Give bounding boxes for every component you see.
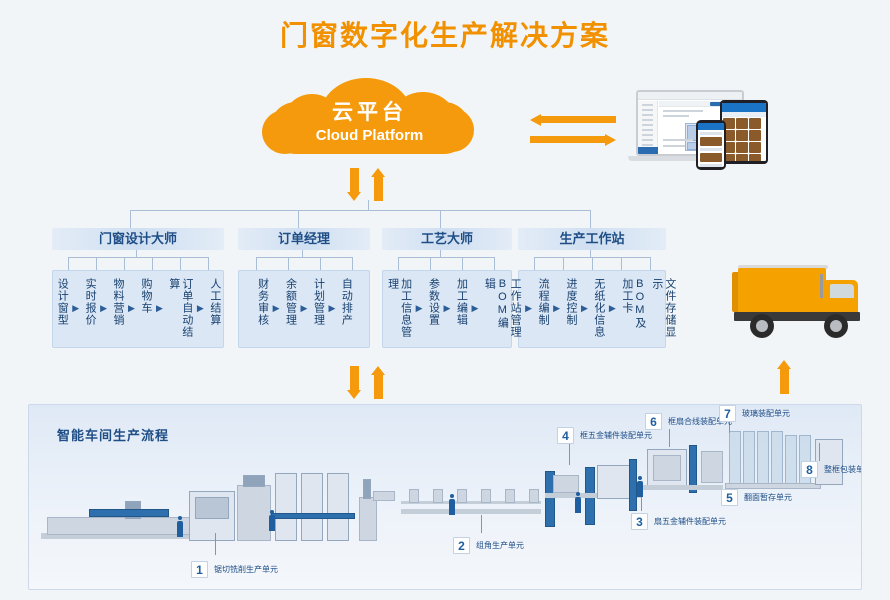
module-items: 工作站管理 ▶ 流程编制 ▶ 进度控制 ▶ 无纸化信息 ▶ BOM及加工卡 文件… bbox=[518, 270, 666, 348]
unit-number: 3 bbox=[631, 513, 648, 530]
modules-to-factory-arrows bbox=[345, 366, 391, 400]
module-design-master[interactable]: 门窗设计大师 设计窗型 ▶ 实时报价 ▶ 物料营销 ▶ 购物车 ▶ 订单自动结算… bbox=[52, 228, 224, 348]
module-header: 门窗设计大师 bbox=[52, 228, 224, 250]
unit-name: 组角生产单元 bbox=[476, 540, 524, 551]
flow-arrow-icon: ▶ bbox=[70, 303, 81, 314]
flow-arrow-icon: ▶ bbox=[442, 303, 453, 314]
module-header: 订单经理 bbox=[238, 228, 370, 250]
arrow-up-icon bbox=[369, 168, 387, 201]
module-order-manager[interactable]: 订单经理 财务审核 ▶ 余额管理 ▶ 计划管理 ▶ 自动排产 bbox=[238, 228, 370, 348]
phone-device bbox=[696, 120, 726, 170]
module-item[interactable]: 实时报价 bbox=[81, 278, 98, 338]
module-production-workstation[interactable]: 生产工作站 工作站管理 ▶ 流程编制 ▶ 进度控制 ▶ 无纸化信息 ▶ BOM及… bbox=[518, 228, 666, 348]
module-sub-connectors bbox=[382, 250, 512, 270]
module-item[interactable]: 工作站管理 bbox=[506, 278, 523, 338]
unit-label-4: 4 框五金辅件装配单元 bbox=[557, 427, 652, 444]
tablet-device bbox=[720, 100, 768, 164]
arrow-right-icon bbox=[530, 134, 616, 145]
flow-arrow-icon: ▶ bbox=[271, 303, 282, 314]
unit-number: 4 bbox=[557, 427, 574, 444]
module-sub-connectors bbox=[52, 250, 224, 270]
flow-arrow-icon: ▶ bbox=[469, 303, 480, 314]
unit-number: 1 bbox=[191, 561, 208, 578]
unit-name: 框五金辅件装配单元 bbox=[580, 430, 652, 441]
module-item[interactable]: 进度控制 bbox=[562, 278, 579, 338]
cloud-device-sync-arrows bbox=[530, 110, 616, 154]
flow-arrow-icon: ▶ bbox=[154, 303, 165, 314]
module-item[interactable]: 加工信息管理 bbox=[384, 278, 414, 338]
unit-label-1: 1 锯切铣削生产单元 bbox=[191, 561, 278, 578]
unit-label-8: 8 整框包装单元 bbox=[801, 461, 862, 478]
module-item[interactable]: 订单自动结算 bbox=[165, 278, 195, 338]
module-item-col-b[interactable]: BOM及加工卡 bbox=[618, 278, 648, 338]
module-header: 工艺大师 bbox=[382, 228, 512, 250]
flow-arrow-icon: ▶ bbox=[607, 303, 618, 314]
module-item[interactable]: 参数设置 bbox=[425, 278, 442, 338]
module-item-col-a[interactable]: 文件存储显示 bbox=[648, 278, 678, 338]
arrow-down-icon bbox=[345, 366, 363, 399]
module-item[interactable]: 自动排产 bbox=[337, 278, 354, 338]
arrow-up-icon bbox=[369, 366, 387, 399]
cloud-label-group: 云平台 Cloud Platform bbox=[262, 100, 477, 146]
module-items: 加工信息管理 ▶ 参数设置 ▶ 加工编辑 ▶ BOM编辑 bbox=[382, 270, 512, 348]
module-items: 设计窗型 ▶ 实时报价 ▶ 物料营销 ▶ 购物车 ▶ 订单自动结算 ▶ 人工结算 bbox=[52, 270, 224, 348]
truck-window bbox=[830, 284, 854, 298]
unit-number: 5 bbox=[721, 489, 738, 506]
unit-label-7: 7 玻璃装配单元 bbox=[719, 405, 790, 422]
module-items: 财务审核 ▶ 余额管理 ▶ 计划管理 ▶ 自动排产 bbox=[238, 270, 370, 348]
unit-number: 8 bbox=[801, 461, 818, 478]
unit-name: 整框包装单元 bbox=[824, 464, 862, 475]
factory-title: 智能车间生产流程 bbox=[57, 425, 169, 444]
flow-arrow-icon: ▶ bbox=[195, 303, 206, 314]
truck-wheel bbox=[750, 314, 774, 338]
unit-number: 2 bbox=[453, 537, 470, 554]
flow-arrow-icon: ▶ bbox=[523, 303, 534, 314]
module-sub-connectors bbox=[518, 250, 666, 270]
unit-name: 锯切铣削生产单元 bbox=[214, 564, 278, 575]
flow-arrow-icon: ▶ bbox=[126, 303, 137, 314]
module-item[interactable]: 无纸化信息 bbox=[590, 278, 607, 338]
unit-number: 7 bbox=[719, 405, 736, 422]
module-item[interactable]: 财务审核 bbox=[254, 278, 271, 338]
module-header: 生产工作站 bbox=[518, 228, 666, 250]
cloud-to-modules-arrows bbox=[345, 168, 391, 202]
module-item[interactable]: 设计窗型 bbox=[53, 278, 70, 338]
module-item[interactable]: 余额管理 bbox=[282, 278, 299, 338]
unit-label-2: 2 组角生产单元 bbox=[453, 537, 524, 554]
cloud-label-en: Cloud Platform bbox=[262, 126, 477, 146]
module-item[interactable]: 加工编辑 bbox=[452, 278, 469, 338]
delivery-truck bbox=[712, 258, 862, 354]
unit-name: 翻面暂存单元 bbox=[744, 492, 792, 503]
truck-cargo-box bbox=[738, 268, 826, 314]
page-title: 门窗数字化生产解决方案 bbox=[0, 14, 890, 54]
module-craft-master[interactable]: 工艺大师 加工信息管理 ▶ 参数设置 ▶ 加工编辑 ▶ BOM编辑 bbox=[382, 228, 512, 348]
smart-workshop-panel: 智能车间生产流程 bbox=[28, 404, 862, 590]
module-item[interactable]: 流程编制 bbox=[534, 278, 551, 338]
unit-name: 玻璃装配单元 bbox=[742, 408, 790, 419]
module-item[interactable]: 计划管理 bbox=[309, 278, 326, 338]
unit-label-5: 5 翻面暂存单元 bbox=[721, 489, 792, 506]
flow-arrow-icon: ▶ bbox=[414, 303, 425, 314]
unit-label-3: 3 扇五金辅件装配单元 bbox=[631, 513, 726, 530]
device-mockups bbox=[628, 88, 778, 170]
unit-name: 扇五金辅件装配单元 bbox=[654, 516, 726, 527]
flow-arrow-icon: ▶ bbox=[579, 303, 590, 314]
module-sub-connectors bbox=[238, 250, 370, 270]
arrow-down-icon bbox=[345, 168, 363, 201]
flow-arrow-icon: ▶ bbox=[299, 303, 310, 314]
cloud-platform: 云平台 Cloud Platform bbox=[262, 78, 477, 158]
module-item[interactable]: 购物车 bbox=[137, 278, 154, 338]
flow-arrow-icon: ▶ bbox=[98, 303, 109, 314]
truck-wheel bbox=[824, 314, 848, 338]
arrow-left-icon bbox=[530, 114, 616, 125]
module-item[interactable]: 人工结算 bbox=[206, 278, 223, 338]
cloud-label-cn: 云平台 bbox=[262, 100, 477, 126]
flow-arrow-icon: ▶ bbox=[551, 303, 562, 314]
module-item[interactable]: 物料营销 bbox=[109, 278, 126, 338]
unit-number: 6 bbox=[645, 413, 662, 430]
shipping-arrow-up-icon bbox=[774, 360, 794, 394]
flow-arrow-icon: ▶ bbox=[326, 303, 337, 314]
